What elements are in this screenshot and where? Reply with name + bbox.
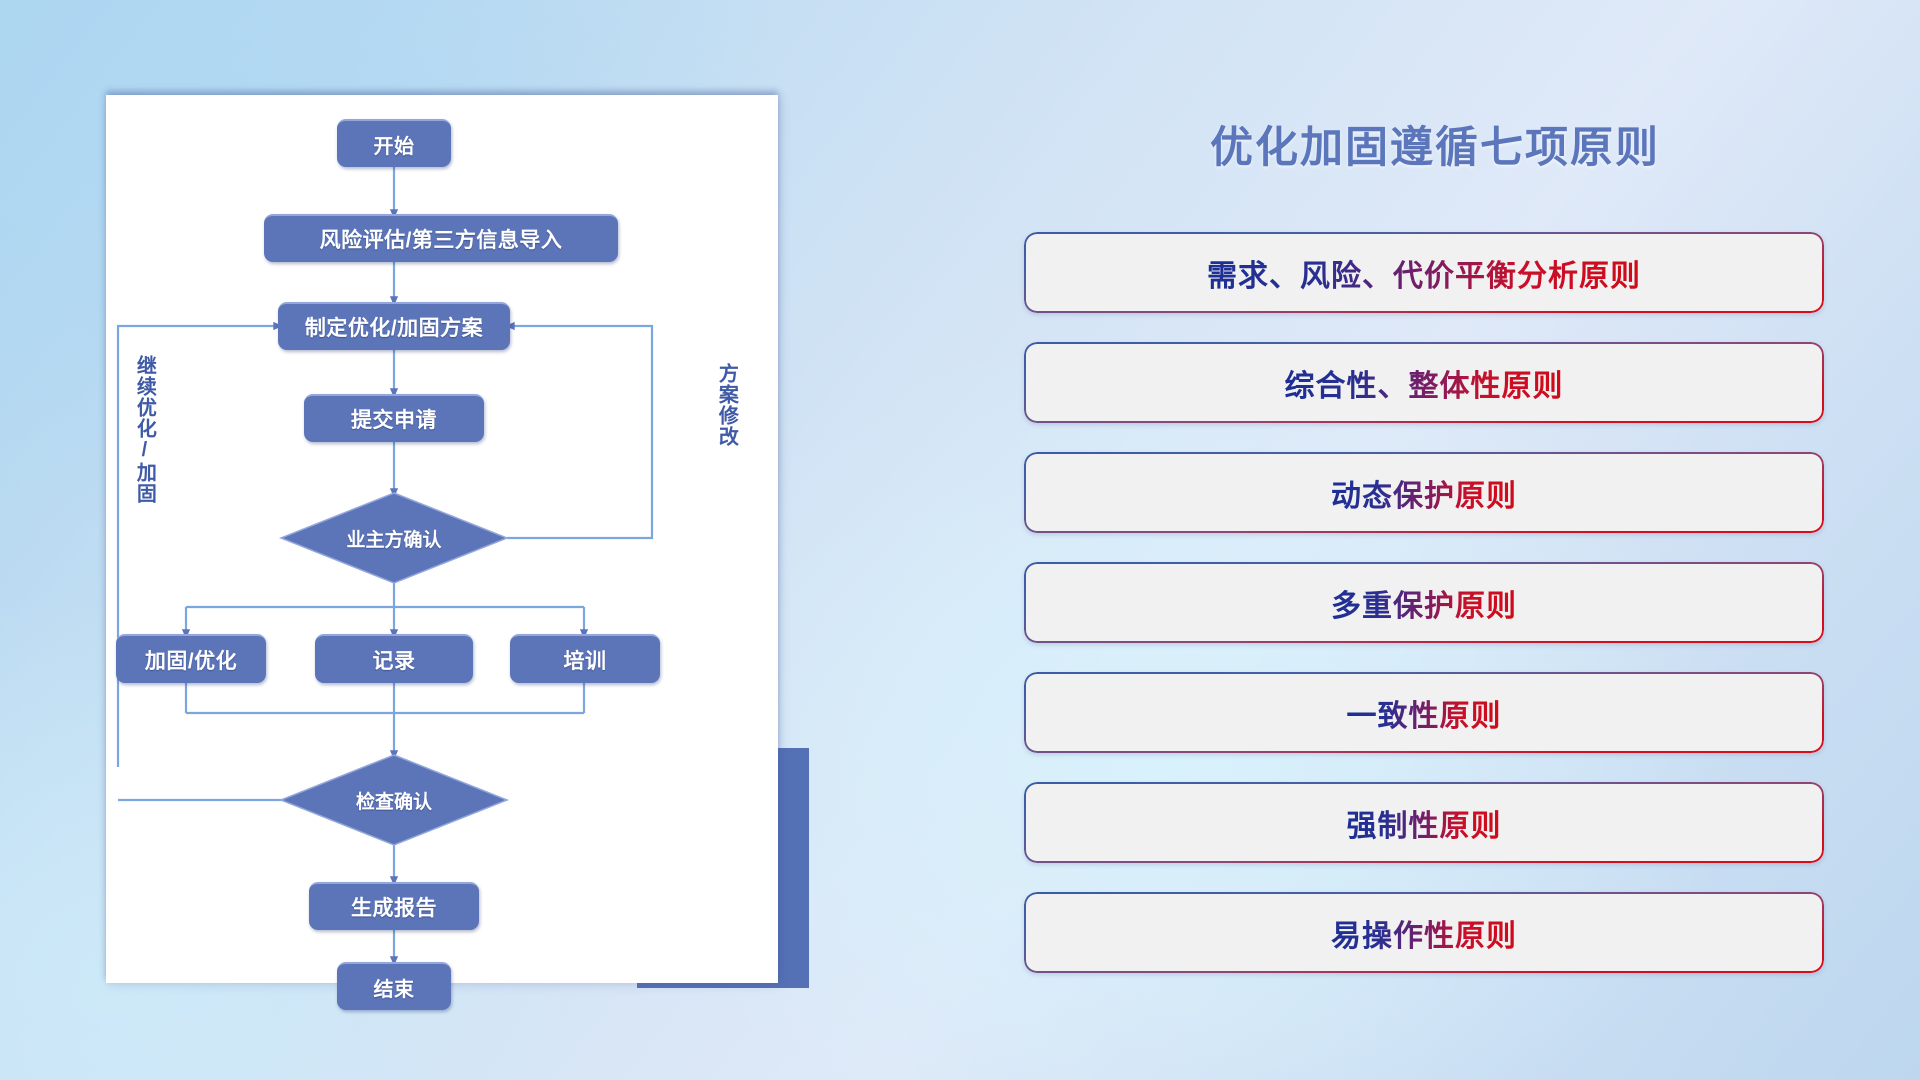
node-start: 开始: [337, 119, 451, 167]
decision-inspection-confirm: [281, 755, 507, 845]
principle-card-label: 强制性原则: [1347, 801, 1502, 845]
principle-card-label: 一致性原则: [1347, 691, 1502, 735]
node-submit-application-label: 提交申请: [351, 404, 437, 434]
principle-card-label: 动态保护原则: [1331, 471, 1517, 515]
principle-card[interactable]: 强制性原则: [1024, 782, 1824, 863]
slide-canvas: 开始 风险评估/第三方信息导入 制定优化/加固方案 提交申请 业主方确认 加固/…: [0, 0, 1920, 1080]
node-reinforce-optimize-label: 加固/优化: [145, 645, 237, 675]
node-record-label: 记录: [373, 645, 416, 675]
flowchart: 开始 风险评估/第三方信息导入 制定优化/加固方案 提交申请 业主方确认 加固/…: [106, 95, 778, 983]
node-end: 结束: [337, 962, 451, 1010]
principle-card[interactable]: 多重保护原则: [1024, 562, 1824, 643]
node-generate-report: 生成报告: [309, 882, 479, 930]
principle-card-label: 多重保护原则: [1331, 581, 1517, 625]
principle-card[interactable]: 易操作性原则: [1024, 892, 1824, 973]
principles-panel: 优化加固遵循七项原则 需求、风险、代价平衡分析原则 综合性、整体性原则 动态保护…: [1020, 95, 1850, 995]
principle-card[interactable]: 综合性、整体性原则: [1024, 342, 1824, 423]
node-plan-label: 制定优化/加固方案: [305, 312, 483, 342]
node-start-label: 开始: [374, 130, 415, 159]
node-risk-assessment: 风险评估/第三方信息导入: [264, 214, 618, 262]
node-reinforce-optimize: 加固/优化: [116, 634, 266, 683]
node-record: 记录: [315, 634, 473, 683]
panel-title: 优化加固遵循七项原则: [1020, 113, 1850, 175]
node-submit-application: 提交申请: [304, 394, 484, 442]
node-risk-assessment-label: 风险评估/第三方信息导入: [320, 224, 563, 254]
node-plan: 制定优化/加固方案: [278, 302, 510, 350]
node-training-label: 培训: [564, 645, 607, 675]
principle-card[interactable]: 一致性原则: [1024, 672, 1824, 753]
flowchart-card: 开始 风险评估/第三方信息导入 制定优化/加固方案 提交申请 业主方确认 加固/…: [106, 95, 778, 983]
principle-card-label: 综合性、整体性原则: [1285, 361, 1564, 405]
principle-card[interactable]: 动态保护原则: [1024, 452, 1824, 533]
principle-card[interactable]: 需求、风险、代价平衡分析原则: [1024, 232, 1824, 313]
node-end-label: 结束: [374, 973, 415, 1002]
edge-label-continue-optimize: 继续优化/加固: [134, 355, 154, 504]
principle-card-label: 需求、风险、代价平衡分析原则: [1207, 251, 1641, 295]
edge-label-plan-revision: 方案修改: [716, 363, 736, 447]
principle-card-label: 易操作性原则: [1331, 911, 1517, 955]
decision-owner-confirm: [281, 493, 507, 583]
principles-list: 需求、风险、代价平衡分析原则 综合性、整体性原则 动态保护原则 多重保护原则 一…: [1024, 232, 1824, 1002]
node-training: 培训: [510, 634, 660, 683]
node-generate-report-label: 生成报告: [351, 892, 437, 922]
